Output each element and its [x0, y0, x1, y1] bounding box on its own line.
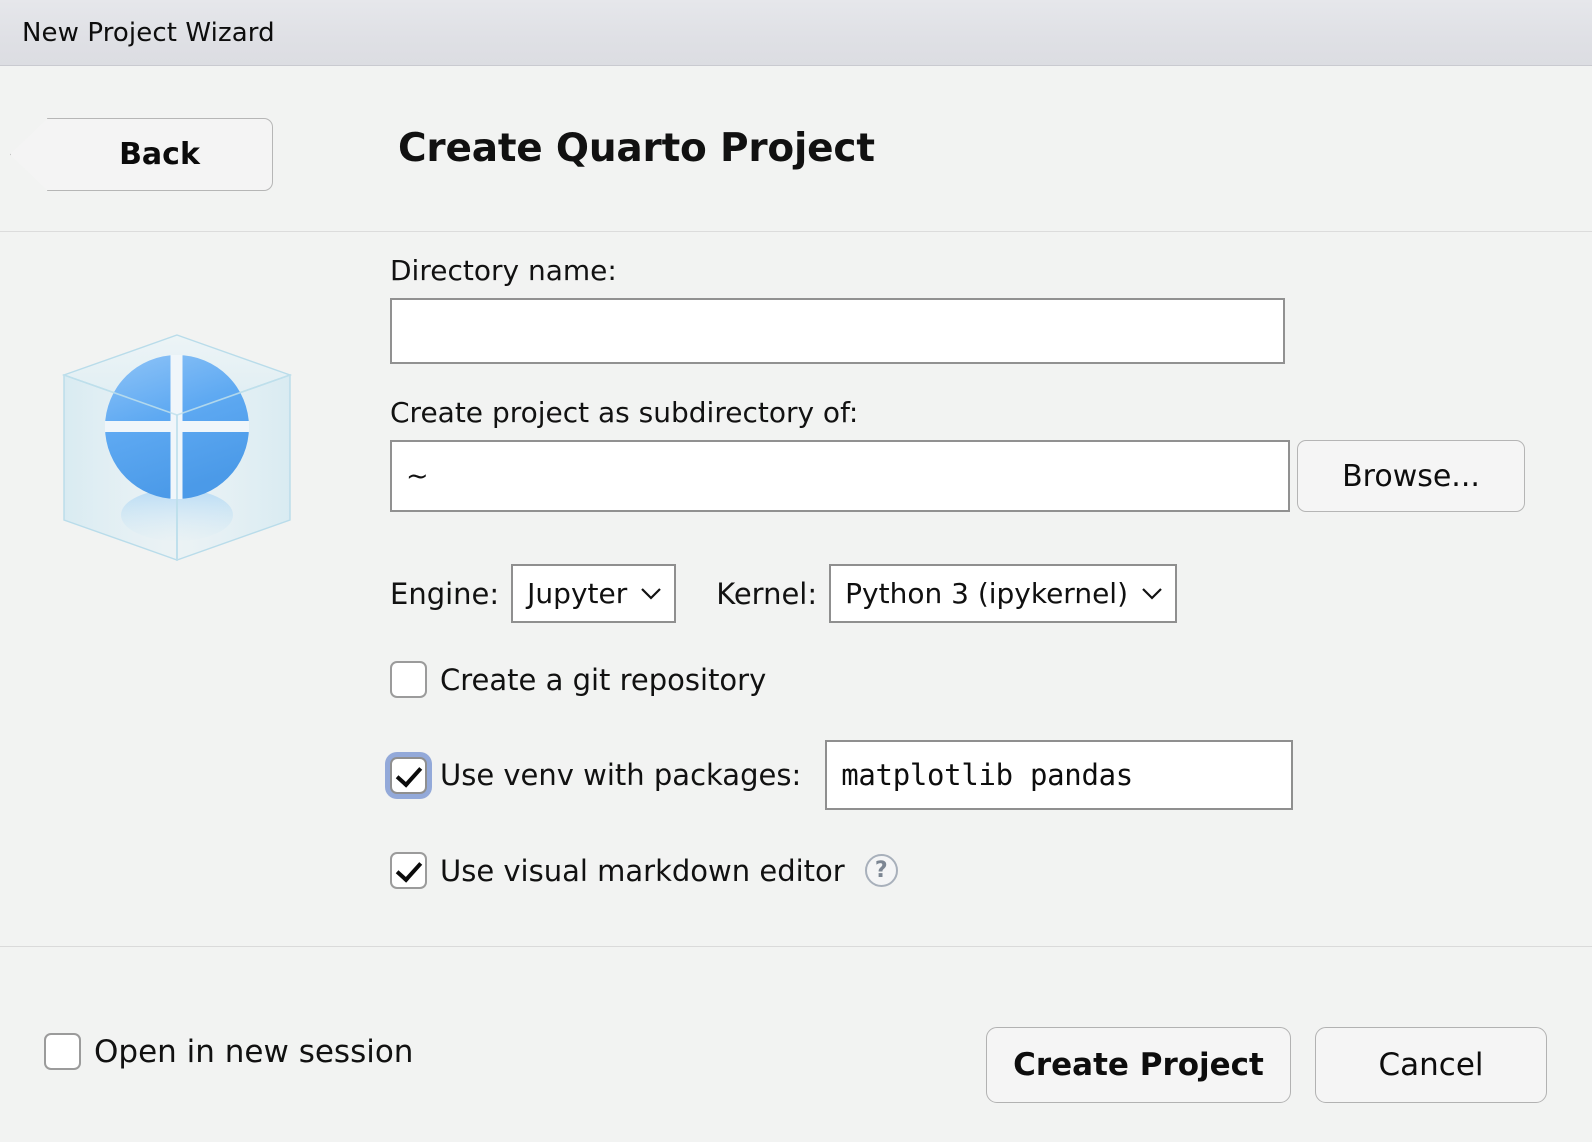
open-in-new-session-row: Open in new session	[44, 1033, 413, 1070]
venv-packages-input[interactable]: matplotlib pandas	[825, 740, 1293, 810]
directory-name-input[interactable]	[390, 298, 1285, 364]
kernel-label: Kernel:	[716, 577, 817, 611]
engine-select-value: Jupyter	[527, 577, 627, 610]
directory-name-label: Directory name:	[390, 254, 1540, 287]
page-title: Create Quarto Project	[398, 126, 875, 171]
wizard-header: Back Create Quarto Project	[0, 66, 1592, 232]
back-button[interactable]: Back	[47, 118, 273, 191]
cancel-button[interactable]: Cancel	[1315, 1027, 1547, 1103]
quarto-project-cube-icon	[48, 317, 306, 575]
window-titlebar: New Project Wizard	[0, 0, 1592, 66]
window-title: New Project Wizard	[0, 18, 275, 48]
git-repository-checkbox[interactable]	[390, 661, 427, 698]
subdirectory-path-input[interactable]: ~	[390, 440, 1290, 512]
subdirectory-row: ~ Browse...	[390, 440, 1540, 512]
new-project-wizard-dialog: New Project Wizard Back Create Quarto Pr…	[0, 0, 1592, 1142]
visual-markdown-editor-label: Use visual markdown editor	[440, 854, 845, 888]
git-repository-label: Create a git repository	[440, 663, 766, 697]
subdirectory-label: Create project as subdirectory of:	[390, 396, 1540, 429]
wizard-body: Directory name: Create project as subdir…	[0, 232, 1592, 946]
engine-kernel-row: Engine: Jupyter Kernel: Python 3 (ipyker…	[390, 564, 1540, 623]
engine-label: Engine:	[390, 577, 499, 611]
use-venv-row: Use venv with packages: matplotlib panda…	[390, 740, 1540, 810]
browse-button[interactable]: Browse...	[1297, 440, 1525, 512]
open-in-new-session-label: Open in new session	[94, 1034, 413, 1070]
visual-markdown-editor-row: Use visual markdown editor ?	[390, 852, 1540, 889]
engine-select[interactable]: Jupyter	[511, 564, 676, 623]
wizard-footer: Open in new session Create Project Cance…	[0, 946, 1592, 1142]
back-button-label: Back	[119, 137, 200, 172]
use-venv-checkbox[interactable]	[390, 757, 427, 794]
create-project-button[interactable]: Create Project	[986, 1027, 1291, 1103]
kernel-select[interactable]: Python 3 (ipykernel)	[829, 564, 1177, 623]
project-form: Directory name: Create project as subdir…	[390, 254, 1540, 889]
chevron-down-icon	[640, 587, 662, 600]
visual-markdown-editor-checkbox[interactable]	[390, 852, 427, 889]
footer-actions: Create Project Cancel	[986, 1027, 1547, 1103]
kernel-select-value: Python 3 (ipykernel)	[845, 577, 1128, 610]
use-venv-label: Use venv with packages:	[440, 758, 801, 792]
help-question-icon[interactable]: ?	[865, 854, 898, 887]
chevron-down-icon	[1141, 587, 1163, 600]
open-in-new-session-checkbox[interactable]	[44, 1033, 81, 1070]
git-repository-row: Create a git repository	[390, 661, 1540, 698]
